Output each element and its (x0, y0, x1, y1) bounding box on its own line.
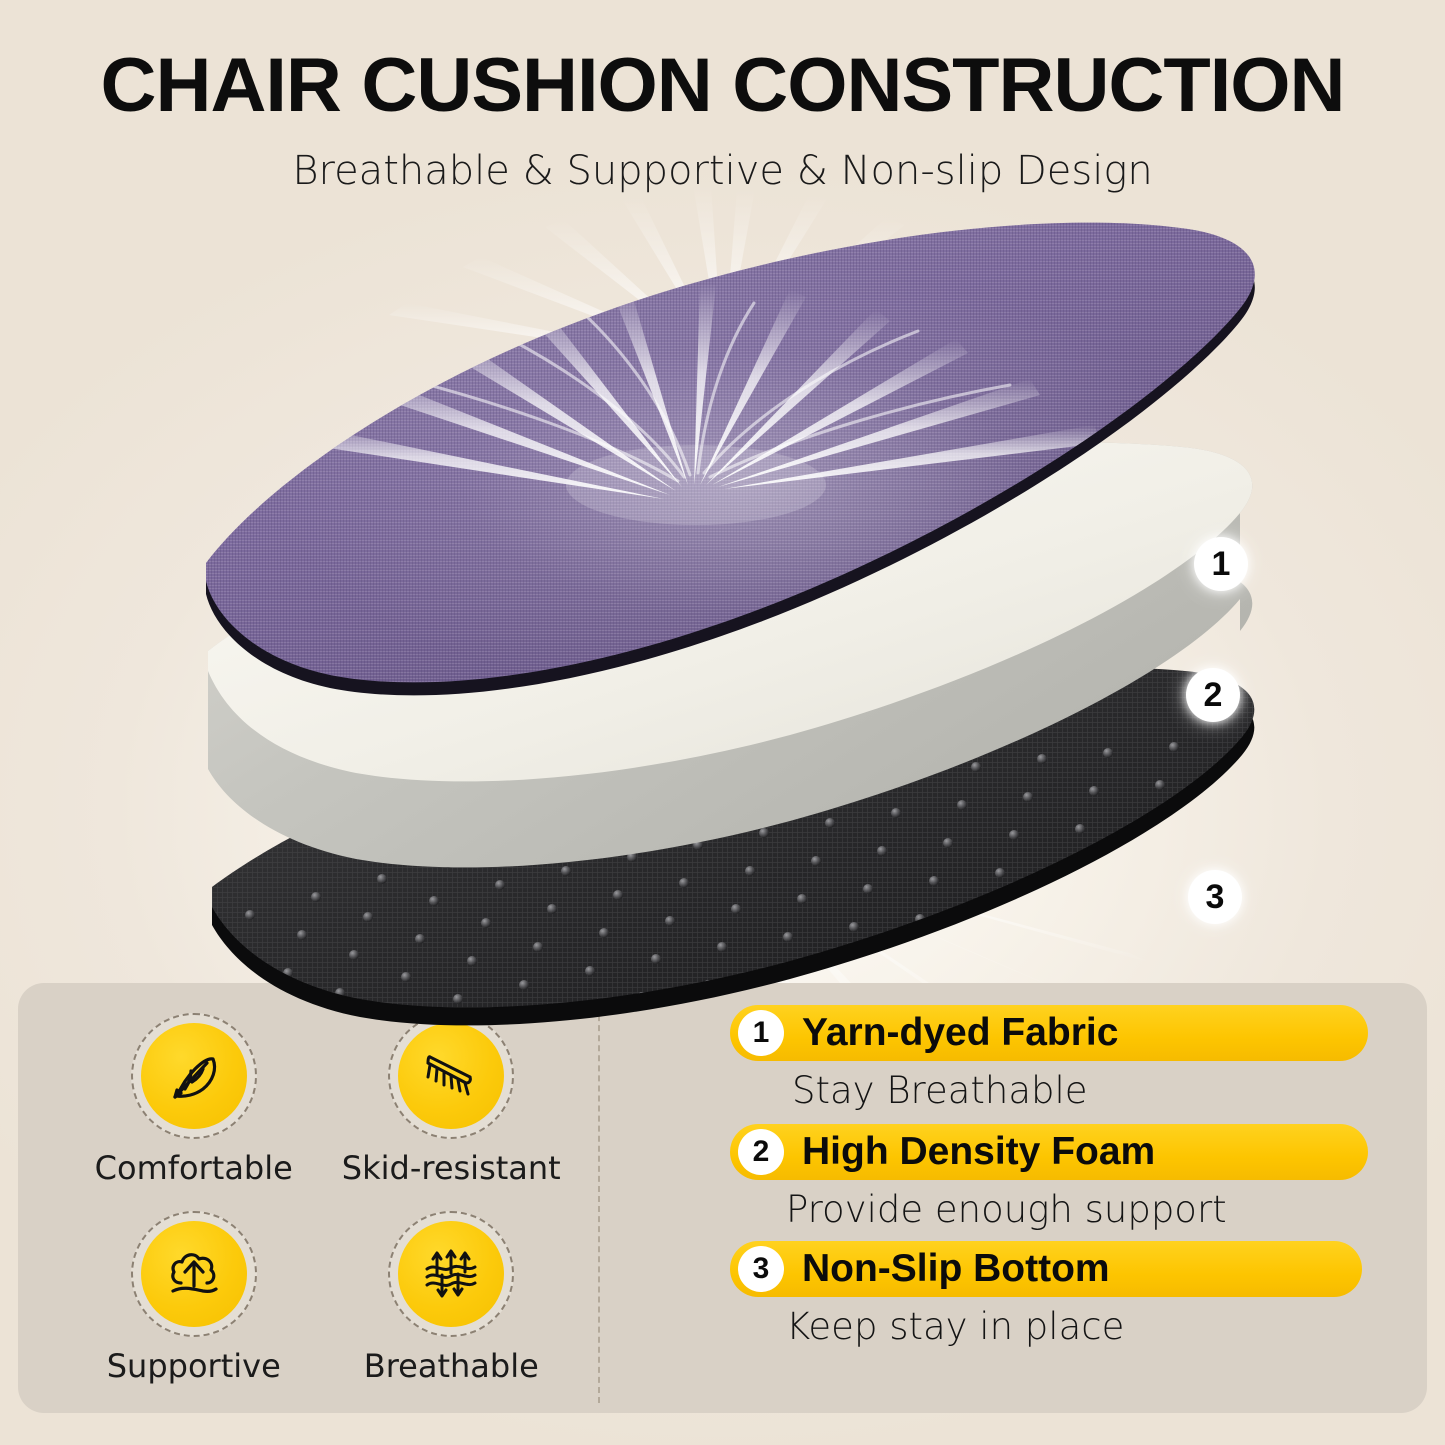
cloud-up-arrow-icon (141, 1221, 247, 1327)
feature-subtitle-1: Stay Breathable (792, 1069, 1380, 1112)
benefit-label: Supportive (107, 1347, 281, 1385)
feature-pill-3[interactable]: 3 Non-Slip Bottom (730, 1241, 1362, 1297)
product-callout-3: 3 (1188, 870, 1242, 924)
feature-row-1[interactable]: 1 Yarn-dyed Fabric Stay Breathable (730, 1005, 1380, 1112)
feature-badge-2: 2 (738, 1129, 784, 1175)
benefit-label: Breathable (364, 1347, 539, 1385)
icon-ring (388, 1211, 514, 1337)
feature-subtitle-3: Keep stay in place (786, 1305, 1380, 1348)
benefit-skid-resistant[interactable]: Skid-resistant (328, 1007, 576, 1199)
benefit-supportive[interactable]: Supportive (70, 1205, 318, 1397)
feature-badge-1: 1 (738, 1010, 784, 1056)
benefit-comfortable[interactable]: Comfortable (70, 1007, 318, 1199)
benefit-icon-grid: Comfortable (70, 1007, 575, 1397)
benefit-breathable[interactable]: Breathable (328, 1205, 576, 1397)
infographic-canvas: CHAIR CUSHION CONSTRUCTION Breathable & … (0, 0, 1445, 1445)
numbered-feature-list: 1 Yarn-dyed Fabric Stay Breathable 2 Hig… (730, 1005, 1380, 1397)
feature-pill-1[interactable]: 1 Yarn-dyed Fabric (730, 1005, 1368, 1061)
feature-title-3: Non-Slip Bottom (802, 1247, 1110, 1291)
grip-bristles-icon (398, 1023, 504, 1129)
feature-subtitle-2: Provide enough support (786, 1188, 1380, 1231)
header: CHAIR CUSHION CONSTRUCTION Breathable & … (0, 0, 1445, 194)
feather-icon (141, 1023, 247, 1129)
product-callout-1: 1 (1194, 537, 1248, 591)
airflow-waves-icon (398, 1221, 504, 1327)
benefit-label: Skid-resistant (342, 1149, 561, 1187)
features-panel: Comfortable (18, 983, 1427, 1413)
icon-ring (131, 1013, 257, 1139)
feature-title-1: Yarn-dyed Fabric (802, 1011, 1118, 1055)
icon-ring (388, 1013, 514, 1139)
feature-title-2: High Density Foam (802, 1130, 1155, 1174)
product-exploded-view: 1 2 3 (0, 185, 1445, 975)
benefit-label: Comfortable (95, 1149, 293, 1187)
feature-row-2[interactable]: 2 High Density Foam Provide enough suppo… (730, 1124, 1380, 1231)
feature-row-3[interactable]: 3 Non-Slip Bottom Keep stay in place (730, 1241, 1380, 1348)
page-title: CHAIR CUSHION CONSTRUCTION (0, 48, 1445, 124)
icon-ring (131, 1211, 257, 1337)
feature-pill-2[interactable]: 2 High Density Foam (730, 1124, 1368, 1180)
product-callout-2: 2 (1186, 668, 1240, 722)
panel-divider (598, 995, 600, 1403)
feature-badge-3: 3 (738, 1246, 784, 1292)
